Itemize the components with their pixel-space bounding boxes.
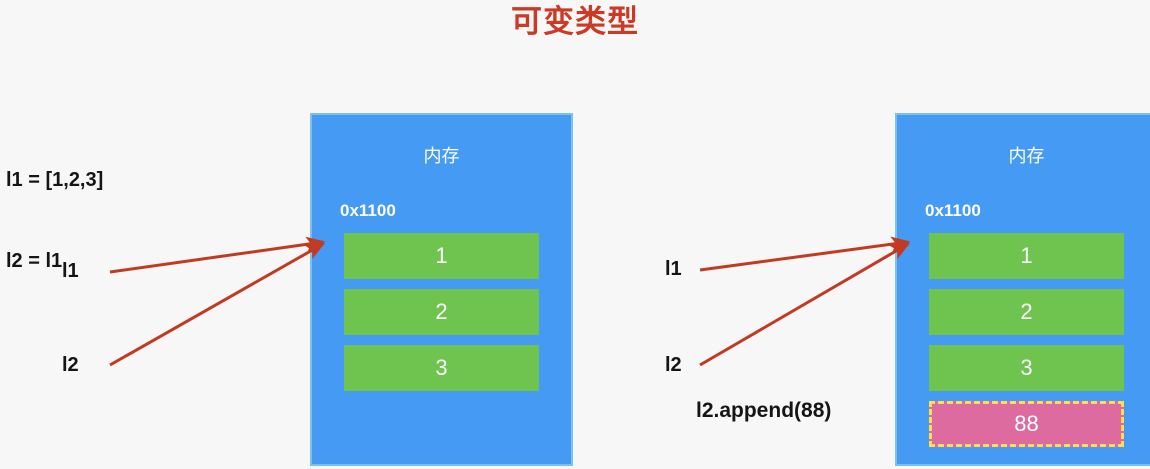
- arrow-l1-after: [700, 242, 908, 270]
- arrow-l2-before: [110, 244, 323, 365]
- memory-cell: 2: [344, 289, 539, 335]
- memory-cell: 2: [929, 289, 1124, 335]
- memory-heading: 内存: [312, 145, 571, 167]
- memory-cell-stack: 1 2 3 88: [929, 233, 1124, 457]
- code-line-1: l1 = [1,2,3]: [6, 167, 103, 194]
- code-line-2: l2 = l1: [6, 248, 103, 275]
- memory-cell: 3: [929, 345, 1124, 391]
- memory-cell-stack: 1 2 3: [344, 233, 539, 401]
- memory-cell: 3: [344, 345, 539, 391]
- memory-heading: 内存: [897, 145, 1150, 167]
- append-operation-label: l2.append(88): [696, 398, 831, 424]
- arrow-l1-before: [110, 242, 323, 272]
- memory-address-label: 0x1100: [925, 201, 981, 221]
- memory-cell-appended: 88: [929, 401, 1124, 447]
- arrow-l2-after: [700, 244, 908, 365]
- memory-cell: 1: [929, 233, 1124, 279]
- variable-label-l2-before: l2: [62, 353, 79, 377]
- memory-cell: 1: [344, 233, 539, 279]
- page-title: 可变类型: [0, 2, 1150, 42]
- code-snippet: l1 = [1,2,3] l2 = l1: [6, 113, 103, 329]
- variable-label-l1-before: l1: [62, 259, 79, 283]
- variable-label-l2-after: l2: [665, 353, 682, 377]
- memory-panel-before: 内存 0x1100 1 2 3: [310, 113, 573, 466]
- variable-label-l1-after: l1: [665, 257, 682, 281]
- memory-address-label: 0x1100: [340, 201, 396, 221]
- memory-panel-after: 内存 0x1100 1 2 3 88: [895, 113, 1150, 466]
- diagram-canvas: 可变类型 l1 = [1,2,3] l2 = l1 内存 0x1100 1 2 …: [0, 0, 1150, 469]
